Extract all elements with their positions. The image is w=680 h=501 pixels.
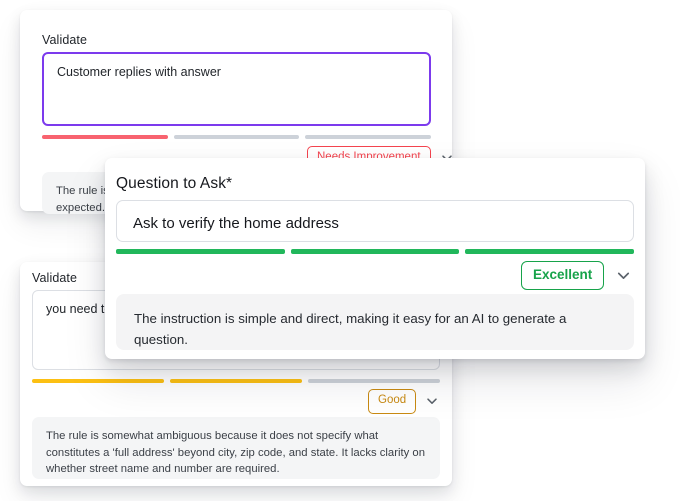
score-segment-3	[305, 135, 431, 139]
question-to-ask-label: Question to Ask*	[116, 175, 232, 193]
status-badge-excellent[interactable]: Excellent	[521, 261, 604, 290]
validate-top-textarea[interactable]: Customer replies with answer	[42, 52, 431, 126]
question-to-ask-feedback-panel: The instruction is simple and direct, ma…	[116, 294, 634, 350]
question-to-ask-card: Question to Ask* Ask to verify the home …	[105, 158, 645, 359]
score-segment-3	[465, 249, 634, 254]
question-to-ask-input[interactable]: Ask to verify the home address	[116, 200, 634, 242]
score-segment-2	[174, 135, 300, 139]
score-segment-1	[116, 249, 285, 254]
validate-bottom-score-bars	[32, 379, 440, 383]
question-to-ask-input-value: Ask to verify the home address	[133, 214, 621, 234]
question-to-ask-verdict-row: Excellent	[521, 261, 633, 290]
validate-bottom-label: Validate	[32, 271, 77, 285]
chevron-down-icon[interactable]	[614, 266, 633, 285]
score-segment-1	[32, 379, 164, 383]
status-badge-good[interactable]: Good	[368, 389, 416, 414]
screenshot-canvas: Validate Customer replies with answer Ne…	[0, 0, 680, 501]
validate-top-score-bars	[42, 135, 431, 139]
validate-bottom-feedback-text: The rule is somewhat ambiguous because i…	[46, 428, 426, 478]
score-segment-2	[291, 249, 460, 254]
score-segment-3	[308, 379, 440, 383]
question-to-ask-feedback-text: The instruction is simple and direct, ma…	[134, 308, 616, 350]
validate-top-label: Validate	[42, 33, 87, 47]
question-to-ask-score-bars	[116, 249, 634, 254]
chevron-down-icon[interactable]	[424, 393, 440, 409]
score-segment-1	[42, 135, 168, 139]
validate-bottom-verdict-row: Good	[368, 389, 440, 414]
validate-bottom-feedback-panel: The rule is somewhat ambiguous because i…	[32, 417, 440, 479]
score-segment-2	[170, 379, 302, 383]
validate-top-textarea-value: Customer replies with answer	[57, 64, 417, 80]
